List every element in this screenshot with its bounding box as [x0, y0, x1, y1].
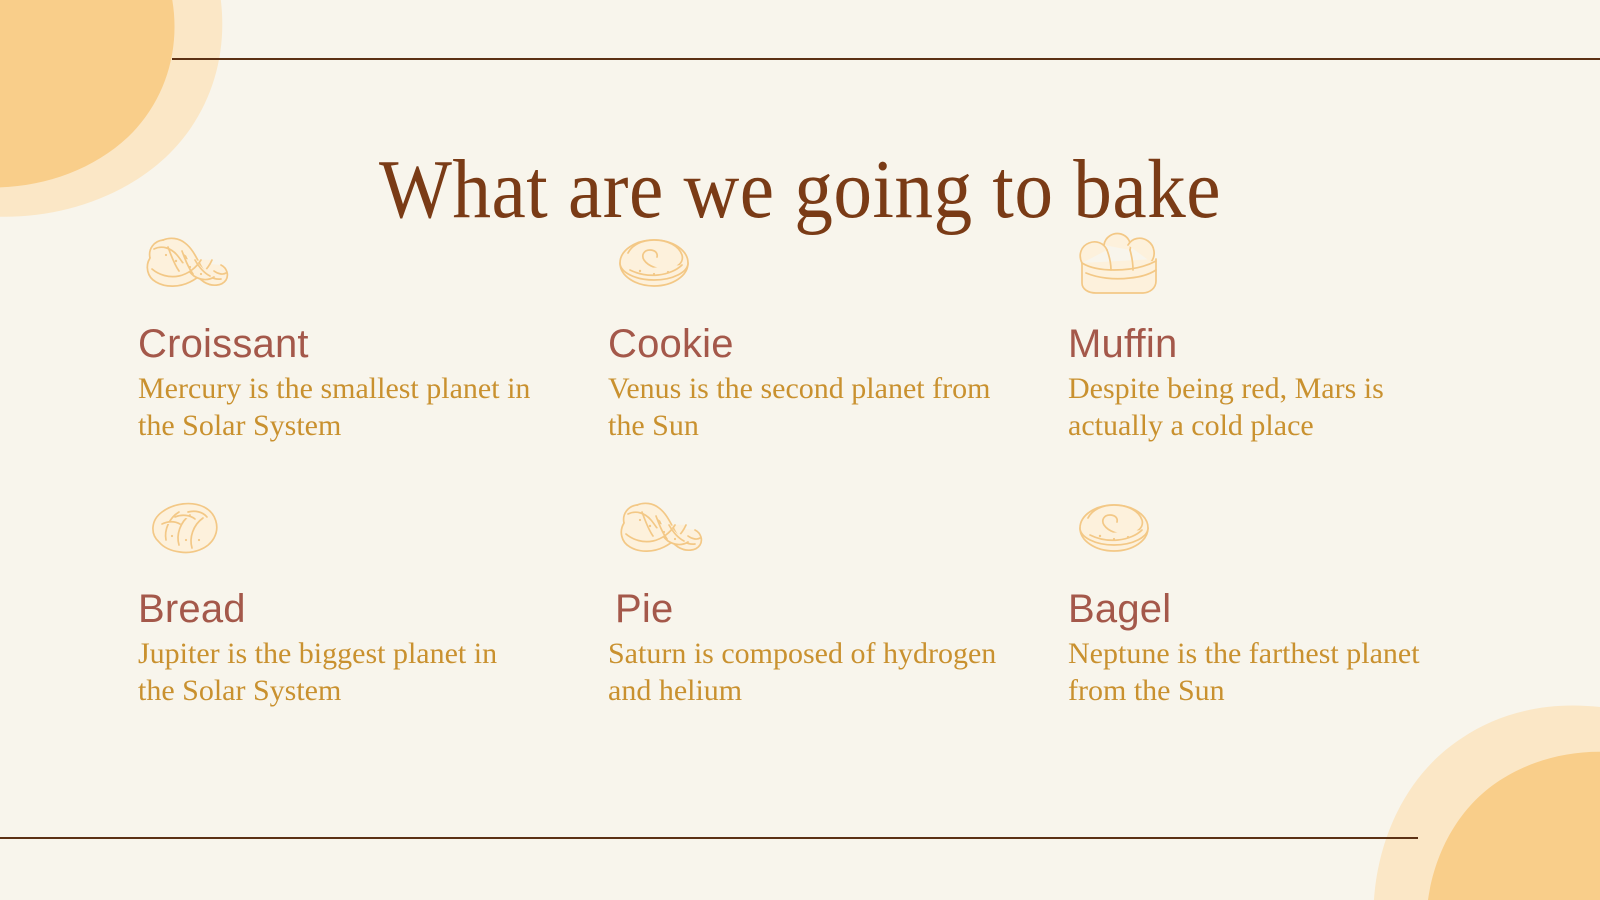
cookie-icon — [608, 225, 1068, 297]
bakery-item-croissant: Croissant Mercury is the smallest planet… — [138, 225, 608, 490]
bakery-item-title: Bread — [138, 588, 608, 630]
bakery-item-description: Despite being red, Mars is actually a co… — [1068, 371, 1468, 444]
bakery-item-muffin: Muffin Despite being red, Mars is actual… — [1068, 225, 1478, 490]
bakery-item-title: Croissant — [138, 323, 608, 365]
bakery-item-description: Jupiter is the biggest planet in the Sol… — [138, 636, 538, 709]
dough-blob-decoration-bottom-right — [1372, 700, 1600, 900]
bakery-item-cookie: Cookie Venus is the second planet from t… — [608, 225, 1068, 490]
bakery-item-description: Mercury is the smallest planet in the So… — [138, 371, 538, 444]
bakery-item-bread: Bread Jupiter is the biggest planet in t… — [138, 490, 608, 709]
bakery-item-title: Muffin — [1068, 323, 1478, 365]
bakery-item-description: Venus is the second planet from the Sun — [608, 371, 1008, 444]
bakery-items-grid: Croissant Mercury is the smallest planet… — [138, 225, 1478, 709]
bakery-item-title: Cookie — [608, 323, 1068, 365]
bakery-item-description: Neptune is the farthest planet from the … — [1068, 636, 1468, 709]
top-horizontal-rule — [172, 58, 1600, 60]
bakery-item-pie: Pie Saturn is composed of hydrogen and h… — [608, 490, 1068, 709]
bread-icon — [138, 490, 608, 562]
bakery-item-bagel: Bagel Neptune is the farthest planet fro… — [1068, 490, 1478, 709]
bakery-item-title: Pie — [608, 588, 1068, 630]
bakery-item-title: Bagel — [1068, 588, 1478, 630]
muffin-icon — [1068, 225, 1478, 297]
bakery-item-description: Saturn is composed of hydrogen and heliu… — [608, 636, 1008, 709]
bottom-horizontal-rule — [0, 837, 1418, 839]
pie-icon — [608, 490, 1068, 562]
croissant-icon — [138, 225, 608, 297]
page-title: What are we going to bake — [64, 148, 1536, 232]
slide-canvas: What are we going to bake — [0, 0, 1600, 900]
bagel-icon — [1068, 490, 1478, 562]
